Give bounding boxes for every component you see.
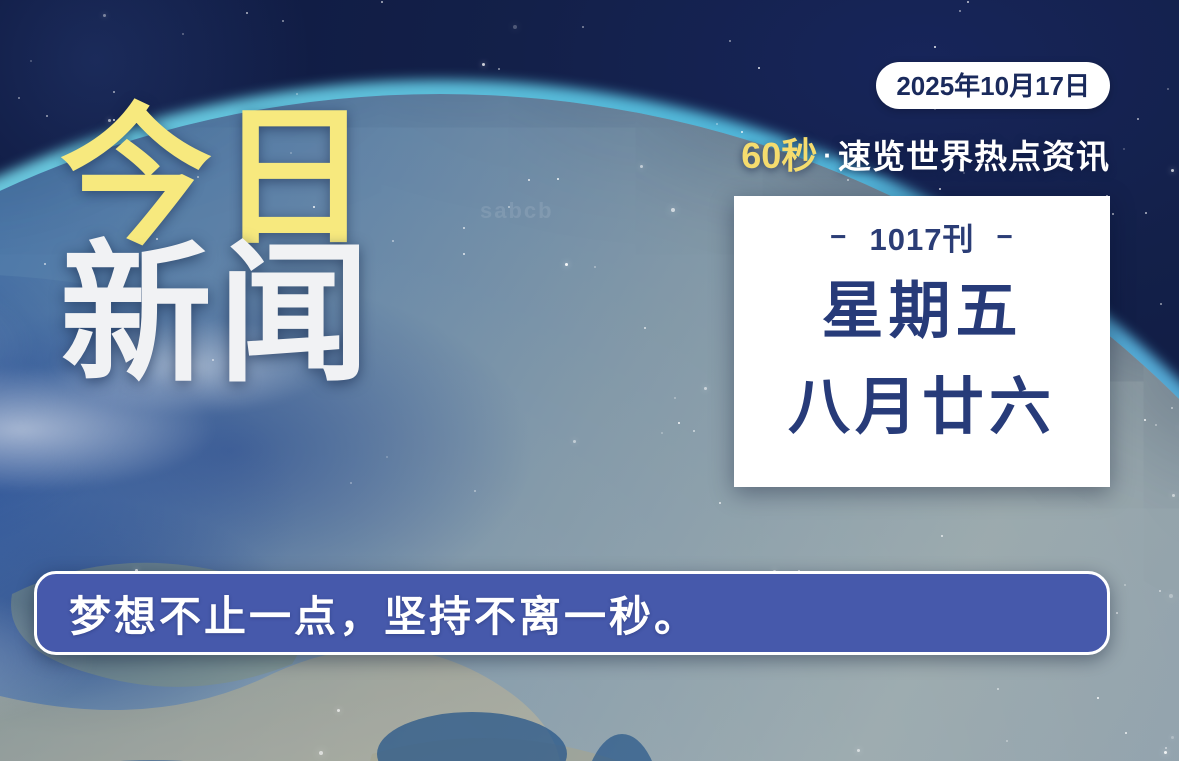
seconds-label: 60秒	[741, 135, 817, 176]
issue-row: − 1017刊 −	[830, 214, 1014, 259]
lunar-date-label: 八月廿六	[788, 377, 1056, 439]
news-poster: sabcb 今日 新闻 2025年10月17日 60秒·速览世界热点资讯 − 1…	[0, 0, 1179, 761]
dash-left-icon: −	[830, 221, 847, 253]
poster-title: 今日 新闻	[60, 104, 480, 390]
weekday-label: 星期五	[821, 281, 1022, 343]
dash-right-icon: −	[996, 221, 1013, 253]
slogan-text: 梦想不止一点，坚持不离一秒。	[37, 583, 699, 644]
tagline-row: 60秒·速览世界热点资讯	[741, 138, 1110, 174]
date-badge: 2025年10月17日	[876, 62, 1110, 109]
issue-number: 1017刊	[870, 214, 975, 259]
info-card: − 1017刊 − 星期五 八月廿六	[734, 196, 1110, 487]
slogan-banner: 梦想不止一点，坚持不离一秒。	[34, 571, 1110, 655]
tagline-text: 速览世界热点资讯	[838, 138, 1110, 175]
title-line-xinwen: 新闻	[60, 241, 480, 390]
separator-dot: ·	[817, 140, 838, 170]
watermark-text: sabcb	[480, 198, 554, 224]
